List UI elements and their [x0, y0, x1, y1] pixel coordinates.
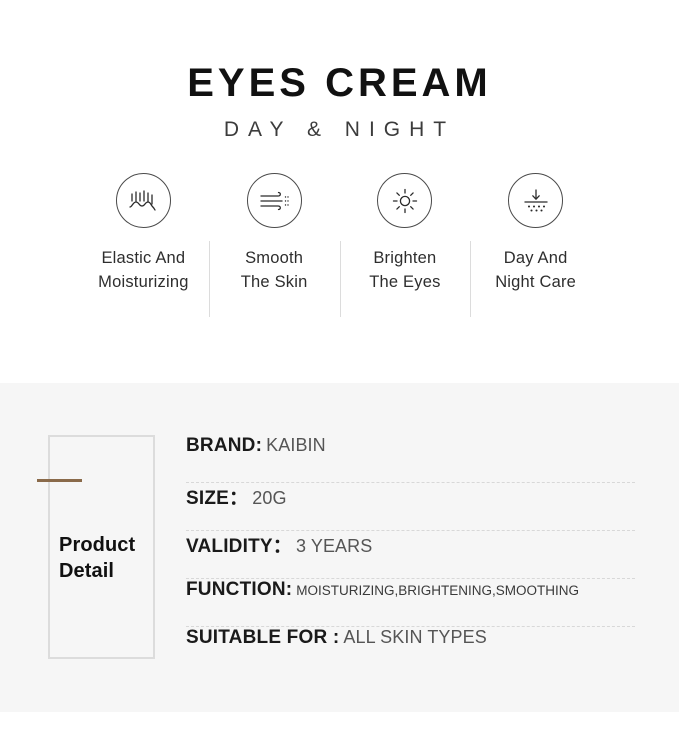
table-row: SIZE： 20G	[186, 483, 635, 531]
feature-label: Day And Night Care	[495, 247, 576, 294]
feature-item-day-night: Day And Night Care	[470, 173, 601, 294]
page-subtitle: DAY & NIGHT	[0, 118, 679, 141]
title-block: EYES CREAM DAY & NIGHT	[0, 0, 679, 141]
spec-label-size: SIZE：	[186, 483, 248, 510]
spec-label-suitable-for: SUITABLE FOR :	[186, 627, 339, 649]
product-detail-section: Product Detail BRAND: KAIBIN SIZE： 20G V…	[0, 383, 679, 712]
feature-label: Brighten The Eyes	[369, 247, 440, 294]
absorption-arrow-icon	[508, 173, 563, 228]
feature-item-elastic: Elastic And Moisturizing	[78, 173, 209, 294]
accent-line	[37, 479, 82, 482]
feature-label: Smooth The Skin	[241, 247, 308, 294]
smooth-lines-icon	[247, 173, 302, 228]
spec-table: BRAND: KAIBIN SIZE： 20G VALIDITY： 3 YEAR…	[186, 435, 635, 675]
spec-value-suitable-for: ALL SKIN TYPES	[343, 627, 486, 648]
skin-elasticity-icon	[116, 173, 171, 228]
product-detail-title: Product Detail	[59, 533, 135, 584]
spec-value-brand: KAIBIN	[266, 435, 326, 456]
spec-value-size: 20G	[252, 488, 286, 509]
table-row: BRAND: KAIBIN	[186, 435, 635, 483]
hero-section: EYES CREAM DAY & NIGHT Elastic And Moist…	[0, 0, 679, 383]
spec-label-brand: BRAND:	[186, 435, 262, 457]
feature-item-smooth: Smooth The Skin	[209, 173, 340, 294]
spec-label-validity: VALIDITY：	[186, 531, 292, 558]
feature-item-brighten: Brighten The Eyes	[340, 173, 471, 294]
table-row: VALIDITY： 3 YEARS	[186, 531, 635, 579]
footer-whitespace	[0, 712, 679, 748]
sun-brighten-icon	[377, 173, 432, 228]
spec-value-validity: 3 YEARS	[296, 536, 372, 557]
product-detail-box: Product Detail	[48, 435, 155, 659]
feature-label: Elastic And Moisturizing	[98, 247, 188, 294]
spec-value-function: MOISTURIZING,BRIGHTENING,SMOOTHING	[296, 583, 579, 598]
feature-list: Elastic And Moisturizing Smooth The Skin	[0, 173, 679, 294]
spec-label-function: FUNCTION:	[186, 579, 292, 601]
page-title: EYES CREAM	[0, 62, 679, 104]
table-row: SUITABLE FOR : ALL SKIN TYPES	[186, 627, 635, 675]
table-row: FUNCTION: MOISTURIZING,BRIGHTENING,SMOOT…	[186, 579, 635, 627]
